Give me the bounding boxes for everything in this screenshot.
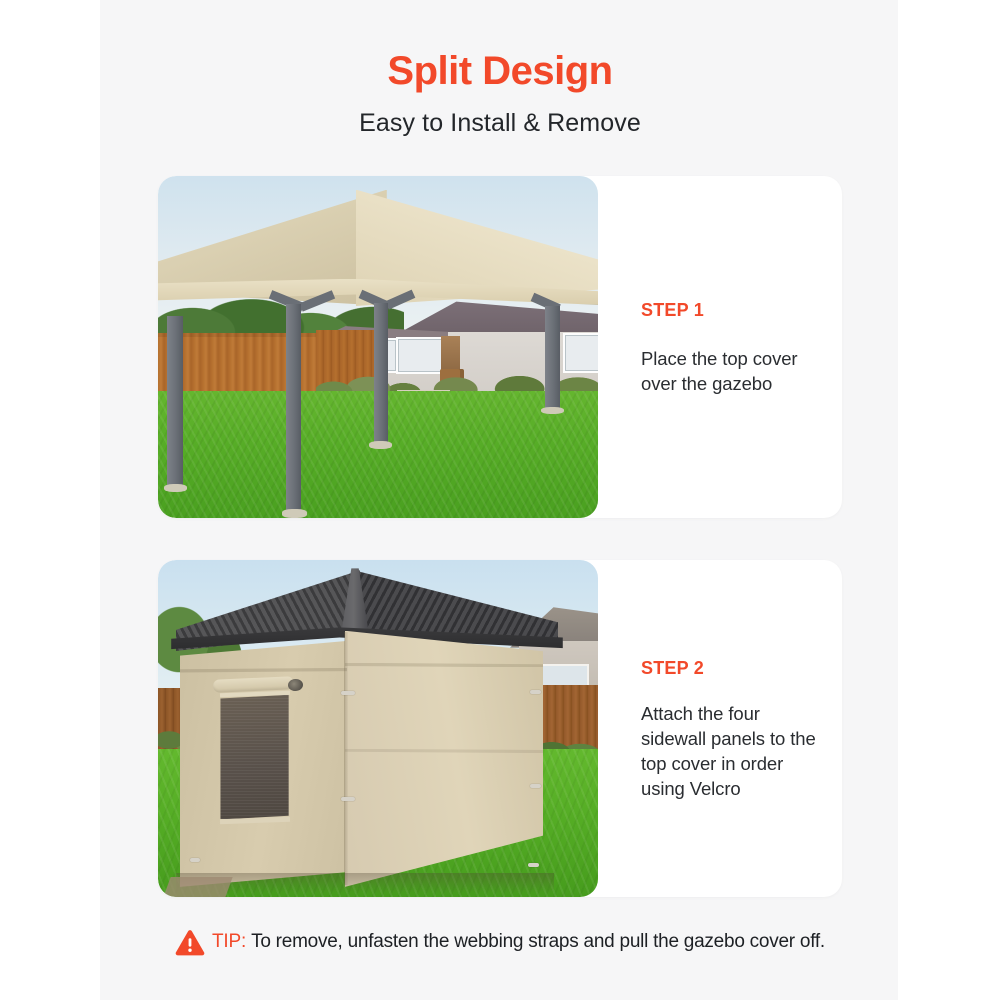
step-1-text-block: STEP 1 Place the top cover over the gaze… — [598, 176, 842, 518]
velcro-clip — [528, 863, 539, 867]
step-1-label: STEP 1 — [641, 299, 824, 321]
step-card-2: STEP 2 Attach the four sidewall panels t… — [158, 560, 842, 897]
mesh-window — [220, 695, 288, 820]
patio-slab — [163, 877, 232, 897]
header: Split Design Easy to Install & Remove — [0, 46, 1000, 139]
gazebo-post — [286, 304, 301, 516]
velcro-clip — [341, 797, 355, 801]
rolled-flap-end-cap — [288, 678, 303, 691]
velcro-clip — [530, 690, 541, 694]
post-footing — [164, 484, 187, 492]
gazebo-post — [167, 316, 183, 490]
step-1-description: Place the top cover over the gazebo — [641, 346, 824, 396]
step-2-text-block: STEP 2 Attach the four sidewall panels t… — [598, 560, 842, 897]
page-subtitle: Easy to Install & Remove — [0, 107, 1000, 139]
step-2-photo — [158, 560, 598, 897]
tip-text: To remove, unfasten the webbing straps a… — [251, 931, 825, 953]
gazebo-post — [374, 303, 388, 447]
post-footing — [369, 441, 392, 449]
step-2-description: Attach the four sidewall panels to the t… — [641, 701, 824, 801]
velcro-clip — [341, 691, 355, 695]
post-footing — [282, 509, 307, 518]
step-1-photo — [158, 176, 598, 518]
gazebo-post — [545, 306, 560, 412]
velcro-clip — [530, 784, 541, 788]
post-footing — [541, 407, 564, 415]
warning-triangle-icon — [175, 929, 205, 956]
infographic-page: Split Design Easy to Install & Remove — [0, 0, 1000, 1000]
step-2-label: STEP 2 — [641, 657, 824, 679]
step-card-1: STEP 1 Place the top cover over the gaze… — [158, 176, 842, 518]
tip-label: TIP: — [212, 931, 246, 953]
page-title: Split Design — [0, 46, 1000, 96]
velcro-clip — [190, 858, 201, 862]
tip-footer: TIP: To remove, unfasten the webbing str… — [0, 928, 1000, 955]
panel-corner-edge — [344, 632, 348, 885]
